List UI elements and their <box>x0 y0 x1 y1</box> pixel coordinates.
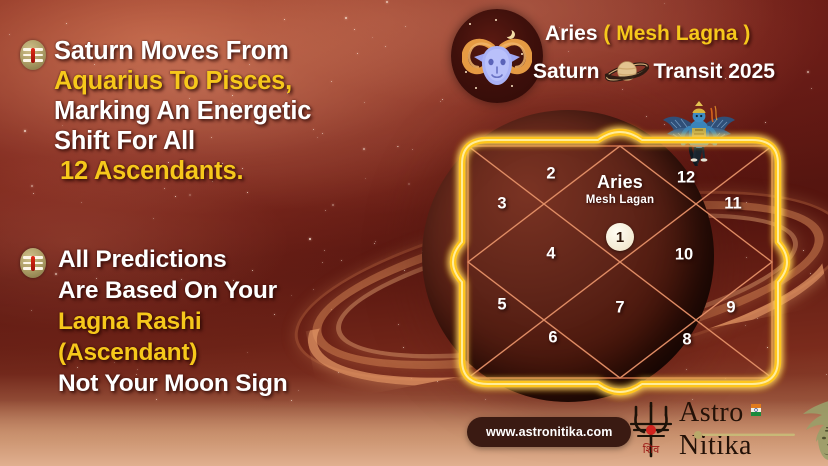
note-line-2: Are Based On Your <box>54 275 288 306</box>
note-line-3: Lagna Rashi <box>54 306 288 337</box>
house-number-2[interactable]: 2 <box>546 165 555 184</box>
trishul-devanagari: शिव <box>643 443 660 456</box>
headline-block: Saturn Moves From Aquarius To Pisces, Ma… <box>20 36 311 186</box>
brand-divider-gada-icon <box>691 431 797 439</box>
aries-ram-icon <box>462 33 532 89</box>
house-number-9[interactable]: 9 <box>726 299 735 318</box>
note-line-4: (Ascendant) <box>54 337 288 368</box>
shiva-tilak-icon <box>20 248 46 278</box>
note-lines: All Predictions Are Based On Your Lagna … <box>54 244 288 399</box>
headline-line-2: Aquarius To Pisces, <box>54 66 311 96</box>
transit-title-pre: Saturn <box>533 60 600 84</box>
sign-name: Aries <box>545 22 598 45</box>
note-block: All Predictions Are Based On Your Lagna … <box>20 244 288 399</box>
house-number-4[interactable]: 4 <box>546 245 555 264</box>
shiva-face-icon <box>801 400 828 462</box>
transit-title-post: Transit 2025 <box>654 60 775 84</box>
ascendant-house-marker[interactable]: 1 <box>606 223 634 251</box>
kundli-chart[interactable]: Aries Mesh Lagan 1 23456789101112 <box>460 138 780 386</box>
aries-zodiac-badge <box>451 9 543 103</box>
brand-line-1: Astro <box>679 399 752 427</box>
headline-lines: Saturn Moves From Aquarius To Pisces, Ma… <box>54 36 311 186</box>
sign-name-hindi: ( Mesh Lagna ) <box>603 22 750 45</box>
house-number-8[interactable]: 8 <box>682 331 691 350</box>
saturn-planet-icon <box>604 57 650 87</box>
headline-line-3: Marking An Energetic <box>54 96 311 126</box>
house-number-12[interactable]: 12 <box>677 169 695 188</box>
trishul-icon: शिव <box>625 402 677 460</box>
house-number-7[interactable]: 7 <box>615 299 624 318</box>
house-number-11[interactable]: 11 <box>724 195 741 214</box>
note-line-1: All Predictions <box>54 244 288 275</box>
website-url-pill[interactable]: www.astronitika.com <box>467 417 631 447</box>
brand-wordmark: Astro Nitika <box>679 399 752 460</box>
house-number-5[interactable]: 5 <box>497 296 506 315</box>
shiva-tilak-icon <box>20 40 46 70</box>
brand-logo[interactable]: शिव Astro Nitika <box>625 398 825 464</box>
headline-line-1: Saturn Moves From <box>54 36 311 66</box>
banner-canvas: Saturn Moves From Aquarius To Pisces, Ma… <box>0 0 828 466</box>
headline-line-5: 12 Ascendants. <box>54 156 311 186</box>
note-line-5: Not Your Moon Sign <box>54 368 288 399</box>
sign-title: Aries ( Mesh Lagna ) <box>545 22 750 46</box>
house-number-6[interactable]: 6 <box>548 329 557 348</box>
transit-title: Saturn Transit 2025 <box>533 57 775 87</box>
house-number-10[interactable]: 10 <box>675 246 693 265</box>
house-number-3[interactable]: 3 <box>497 195 506 214</box>
headline-line-4: Shift For All <box>54 126 311 156</box>
india-flag-icon <box>751 404 761 416</box>
text-column: Saturn Moves From Aquarius To Pisces, Ma… <box>0 0 430 466</box>
